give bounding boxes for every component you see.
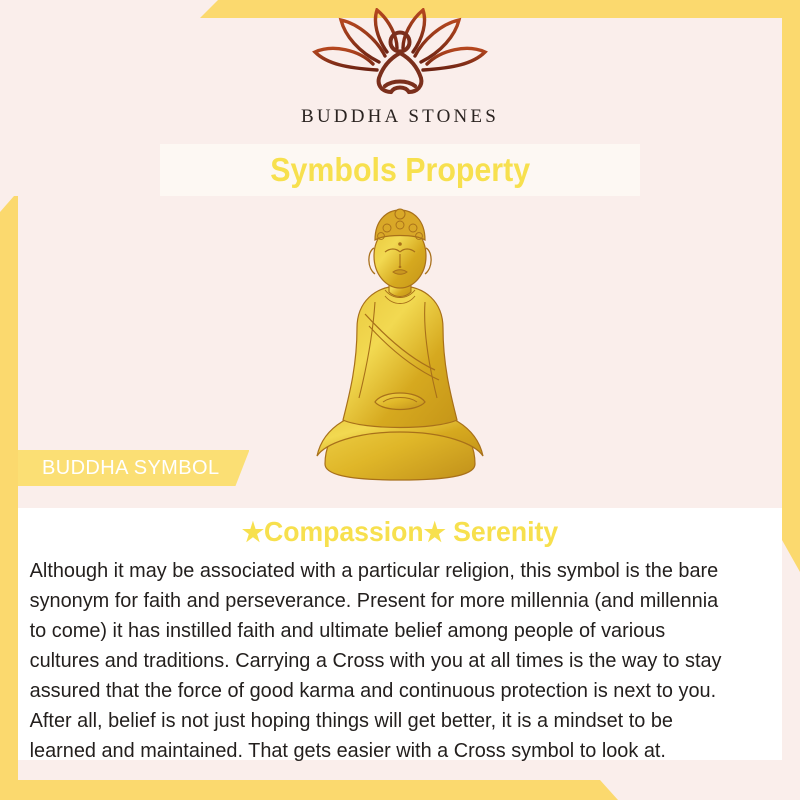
star-icon-left: ★ xyxy=(242,517,264,547)
lotus-meditation-figure-icon xyxy=(307,8,493,104)
title-banner: Symbols Property xyxy=(160,144,640,196)
brand-wordmark: BUDDHA STONES xyxy=(0,106,800,128)
content-panel: ★Compassion★ Serenity Although it may be… xyxy=(18,508,782,760)
symbol-category-tag: BUDDHA SYMBOL xyxy=(18,450,249,486)
brand-logo: BUDDHA STONES xyxy=(0,8,800,128)
golden-seated-buddha-statue-icon xyxy=(305,206,495,494)
star-icon-right: ★ xyxy=(424,517,446,547)
attributes-subtitle: ★Compassion★ Serenity xyxy=(37,508,763,548)
description-paragraph: Although it may be associated with a par… xyxy=(18,548,759,766)
frame-bottom-accent xyxy=(0,780,800,800)
poster-page: BUDDHA STONES Symbols Property xyxy=(0,0,800,800)
attribute-serenity: Serenity xyxy=(453,516,558,547)
page-title: Symbols Property xyxy=(270,151,530,189)
symbol-category-label: BUDDHA SYMBOL xyxy=(42,457,219,480)
attribute-compassion: Compassion xyxy=(264,516,424,547)
